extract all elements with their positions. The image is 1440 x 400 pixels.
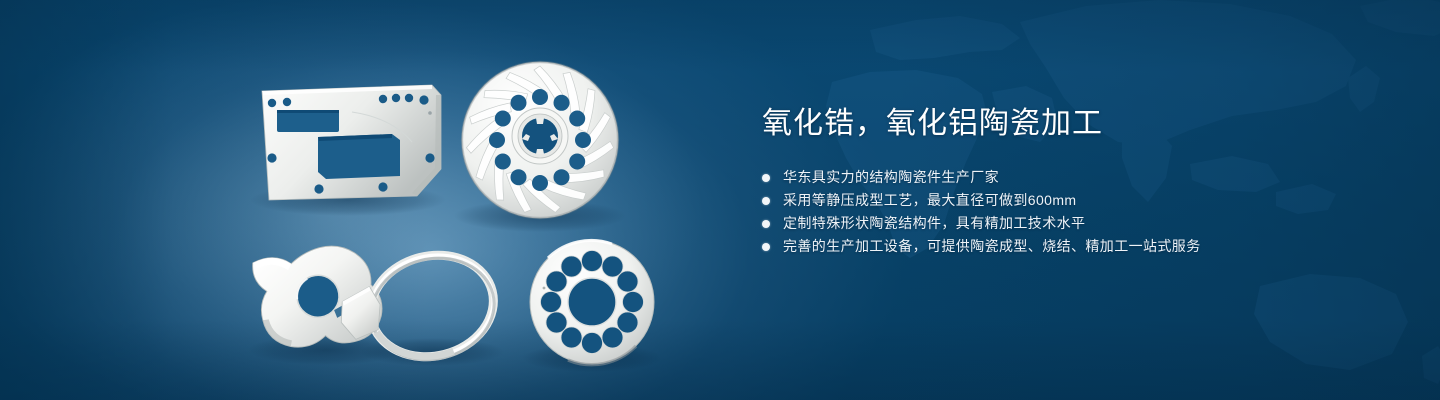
feature-list: 华东具实力的结构陶瓷件生产厂家 采用等静压成型工艺，最大直径可做到600mm 定… bbox=[762, 166, 1382, 258]
ceramic-disc bbox=[530, 240, 654, 365]
product-photo-group bbox=[0, 0, 760, 400]
list-item: 采用等静压成型工艺，最大直径可做到600mm bbox=[762, 189, 1382, 212]
hero-banner: 氧化锆，氧化铝陶瓷加工 华东具实力的结构陶瓷件生产厂家 采用等静压成型工艺，最大… bbox=[0, 0, 1440, 400]
page-title: 氧化锆，氧化铝陶瓷加工 bbox=[762, 104, 1382, 144]
ceramic-plate bbox=[262, 85, 441, 200]
list-item-label: 华东具实力的结构陶瓷件生产厂家 bbox=[783, 166, 999, 189]
bullet-dot-icon bbox=[762, 243, 770, 251]
list-item: 定制特殊形状陶瓷结构件，具有精加工技术水平 bbox=[762, 212, 1382, 235]
list-item-label: 完善的生产加工设备，可提供陶瓷成型、烧结、精加工一站式服务 bbox=[783, 235, 1201, 258]
bullet-dot-icon bbox=[762, 174, 770, 182]
bullet-dot-icon bbox=[762, 197, 770, 205]
bullet-dot-icon bbox=[762, 220, 770, 228]
list-item: 完善的生产加工设备，可提供陶瓷成型、烧结、精加工一站式服务 bbox=[762, 235, 1382, 258]
list-item-label: 采用等静压成型工艺，最大直径可做到600mm bbox=[783, 189, 1076, 212]
list-item: 华东具实力的结构陶瓷件生产厂家 bbox=[762, 166, 1382, 189]
list-item-label: 定制特殊形状陶瓷结构件，具有精加工技术水平 bbox=[783, 212, 1085, 235]
hero-text-block: 氧化锆，氧化铝陶瓷加工 华东具实力的结构陶瓷件生产厂家 采用等静压成型工艺，最大… bbox=[762, 104, 1382, 258]
ceramic-impeller bbox=[462, 62, 618, 218]
